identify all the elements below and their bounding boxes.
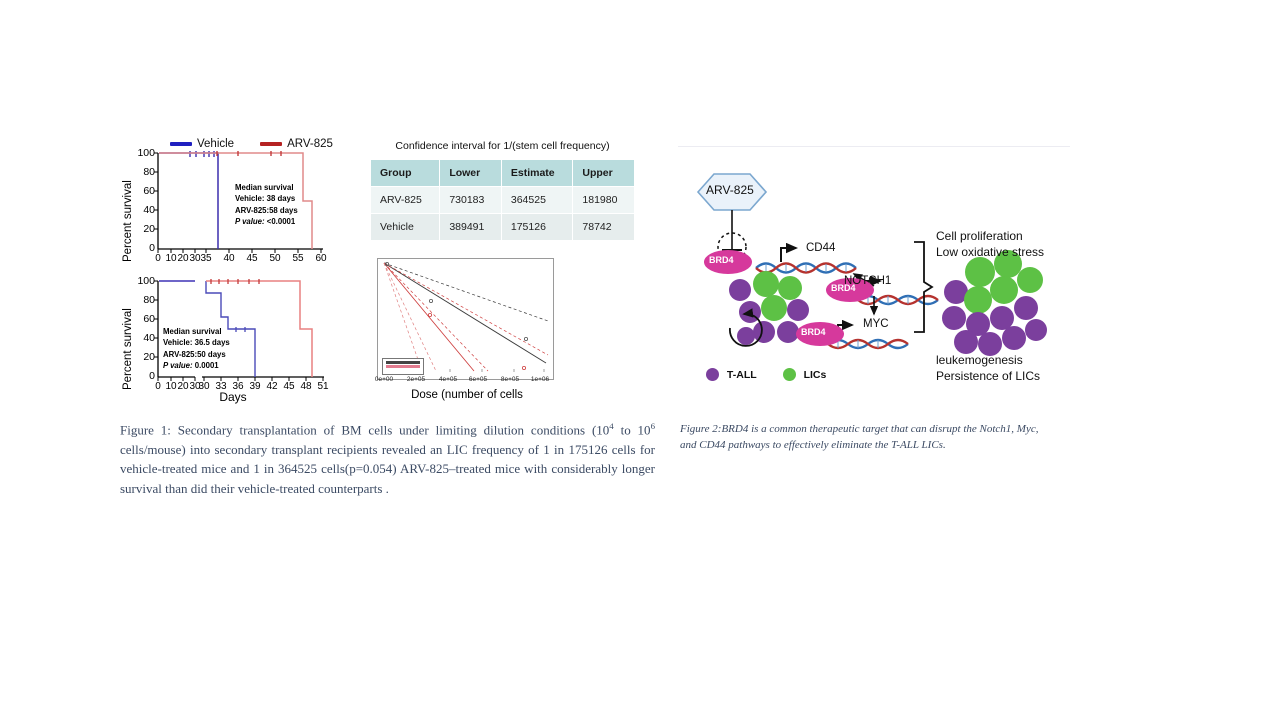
km-legend: Vehicle ARV-825 xyxy=(170,138,333,150)
table-row: ARV-825 730183 364525 181980 xyxy=(371,187,635,214)
table-row: Vehicle 389491 175126 78742 xyxy=(371,214,635,241)
chart-bottom-xtick-51: 51 xyxy=(312,381,334,392)
figure1-caption-sup2: 6 xyxy=(651,421,655,431)
dilution-xtick-2e05: 2e+05 xyxy=(401,376,431,383)
dilution-legend-line-arv825 xyxy=(386,361,420,364)
dna-helix-notch1 xyxy=(858,296,938,304)
survival-chart-bottom: Percent survival 100 80 60 40 20 0 xyxy=(118,278,358,413)
annot-bottom-heading: Median survival xyxy=(163,326,230,337)
outcome-proliferation: Cell proliferation xyxy=(936,229,1023,243)
legend-label-lics: LICs xyxy=(804,369,827,381)
confidence-interval-table: Group Lower Estimate Upper ARV-825 73018… xyxy=(370,159,635,241)
chart-top-xtick-45: 45 xyxy=(241,253,263,264)
dna-helix-myc xyxy=(828,340,908,348)
legend-dot-lics xyxy=(783,368,796,381)
cell-lower-vehicle: 389491 xyxy=(440,214,502,241)
chart-top-xtick-55: 55 xyxy=(287,253,309,264)
legend-key-arv825: ARV-825 xyxy=(260,138,333,150)
table-col-group: Group xyxy=(371,160,440,187)
legend-item-tall: T-ALL xyxy=(706,368,757,381)
confidence-interval-table-wrap: Confidence interval for 1/(stem cell fre… xyxy=(370,140,635,241)
legend-dot-tall xyxy=(706,368,719,381)
mechanism-legend: T-ALL LICs xyxy=(706,368,826,381)
cell-upper-arv825: 181980 xyxy=(573,187,635,214)
legend-label-vehicle: Vehicle xyxy=(197,138,234,150)
dilution-xlabel: Dose (number of cells xyxy=(372,389,562,401)
chart-bottom-annotation: Median survival Vehicle: 36.5 days ARV-8… xyxy=(163,326,230,371)
cell-estimate-vehicle: 175126 xyxy=(501,214,573,241)
survival-chart-top: Percent survival 100 80 60 40 20 0 xyxy=(118,150,358,270)
figure1-caption-text2: to 10 xyxy=(614,422,651,437)
dilution-xtick-1e06: 1e+06 xyxy=(525,376,555,383)
brd4-label-1: BRD4 xyxy=(709,255,734,265)
legend-label-arv825: ARV-825 xyxy=(287,138,333,150)
annot-bottom-pvalue-label: P value: xyxy=(163,361,193,370)
chart-top-xtick-50: 50 xyxy=(264,253,286,264)
table-header-row: Group Lower Estimate Upper xyxy=(371,160,635,187)
limiting-dilution-plot xyxy=(377,258,554,380)
cell-group-arv825: ARV-825 xyxy=(371,187,440,214)
annot-top-arv: ARV-825:58 days xyxy=(235,205,298,216)
dilution-xtick-6e05: 6e+05 xyxy=(463,376,493,383)
table-col-upper: Upper xyxy=(573,160,635,187)
chart-top-annotation: Median survival Vehicle: 38 days ARV-825… xyxy=(235,182,298,227)
chart-bottom-xlabel: Days xyxy=(203,390,263,404)
figure-page: Vehicle ARV-825 Percent survival 100 80 … xyxy=(0,0,1280,720)
outcome-persistence-lics: Persistence of LICs xyxy=(936,369,1040,383)
cell-estimate-arv825: 364525 xyxy=(501,187,573,214)
figure2-caption: Figure 2:BRD4 is a common therapeutic ta… xyxy=(680,422,1040,454)
legend-key-vehicle: Vehicle xyxy=(170,138,234,150)
annot-top-pvalue-label: P value: xyxy=(235,217,265,226)
arv825-label: ARV-825 xyxy=(706,183,754,197)
figure2-caption-label: Figure 2: xyxy=(680,423,721,435)
gene-label-cd44: CD44 xyxy=(806,242,835,254)
cell-cluster-right xyxy=(942,250,1047,356)
chart-top-xtick-35: 35 xyxy=(195,253,217,264)
annot-top-pvalue: <0.0001 xyxy=(267,217,295,226)
brd4-label-3: BRD4 xyxy=(801,327,826,337)
annot-bottom-arv: ARV-825:50 days xyxy=(163,349,230,360)
table-col-estimate: Estimate xyxy=(501,160,573,187)
dna-helix-cd44 xyxy=(756,264,856,273)
outcome-leukemogenesis: leukemogenesis xyxy=(936,353,1023,367)
annot-top-heading: Median survival xyxy=(235,182,298,193)
figure1-caption-text1: Secondary transplantation of BM cells un… xyxy=(171,422,609,437)
dilution-legend xyxy=(382,358,424,375)
figure1-caption: Figure 1: Secondary transplantation of B… xyxy=(120,420,655,498)
dilution-xtick-8e05: 8e+05 xyxy=(495,376,525,383)
table-title: Confidence interval for 1/(stem cell fre… xyxy=(370,140,635,152)
dilution-xtick-4e05: 4e+05 xyxy=(433,376,463,383)
gene-label-notch1: NOTCH1 xyxy=(844,275,891,287)
chart-top-xtick-60: 60 xyxy=(310,253,332,264)
mechanism-diagram: ARV-825 BRD4 BRD4 BRD4 CD44 NOTCH1 MYC C… xyxy=(678,132,1078,412)
annot-bottom-vehicle: Vehicle: 36.5 days xyxy=(163,337,230,348)
legend-label-tall: T-ALL xyxy=(727,369,757,381)
cell-group-vehicle: Vehicle xyxy=(371,214,440,241)
chart-top-xtick-40: 40 xyxy=(218,253,240,264)
dilution-xtick-0: 0e+00 xyxy=(369,376,399,383)
figure1-caption-text3: cells/mouse) into secondary transplant r… xyxy=(120,442,655,496)
cell-upper-vehicle: 78742 xyxy=(573,214,635,241)
annot-top-vehicle: Vehicle: 38 days xyxy=(235,193,298,204)
outcome-bracket xyxy=(914,242,932,332)
cell-lower-arv825: 730183 xyxy=(440,187,502,214)
table-col-lower: Lower xyxy=(440,160,502,187)
annot-bottom-pvalue: 0.0001 xyxy=(195,361,219,370)
outcome-oxidative-stress: Low oxidative stress xyxy=(936,245,1044,259)
legend-swatch-vehicle xyxy=(170,142,192,146)
dilution-legend-line-vehicle xyxy=(386,365,420,368)
figure2-caption-text: BRD4 is a common therapeutic target that… xyxy=(680,423,1038,451)
figure1-caption-label: Figure 1: xyxy=(120,422,171,437)
gene-label-myc: MYC xyxy=(863,318,889,330)
legend-item-lics: LICs xyxy=(783,368,827,381)
legend-swatch-arv825 xyxy=(260,142,282,146)
